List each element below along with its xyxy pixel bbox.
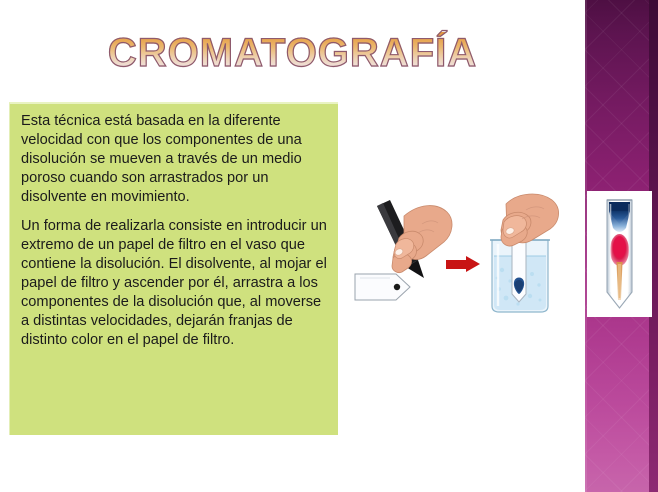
step-hand-drawing-spot	[352, 186, 457, 318]
paragraph-1: Esta técnica está basada en la diferente…	[21, 112, 328, 207]
chromatogram-strip-icon	[588, 192, 651, 316]
paragraph-2: Un forma de realizarla consiste en intro…	[21, 217, 328, 350]
step-developed-chromatogram	[588, 192, 651, 316]
hand-beaker-icon	[470, 186, 570, 318]
page-title: CROMATOGRAFÍA	[0, 32, 585, 74]
arrow-shaft	[446, 260, 468, 269]
slide: CROMATOGRAFÍA Esta técnica está basada e…	[0, 0, 658, 492]
hand-marker-paper-icon	[352, 186, 457, 318]
content-textbox: Esta técnica está basada en la diferente…	[9, 102, 338, 435]
step-dipping-strip-in-beaker	[470, 186, 570, 318]
